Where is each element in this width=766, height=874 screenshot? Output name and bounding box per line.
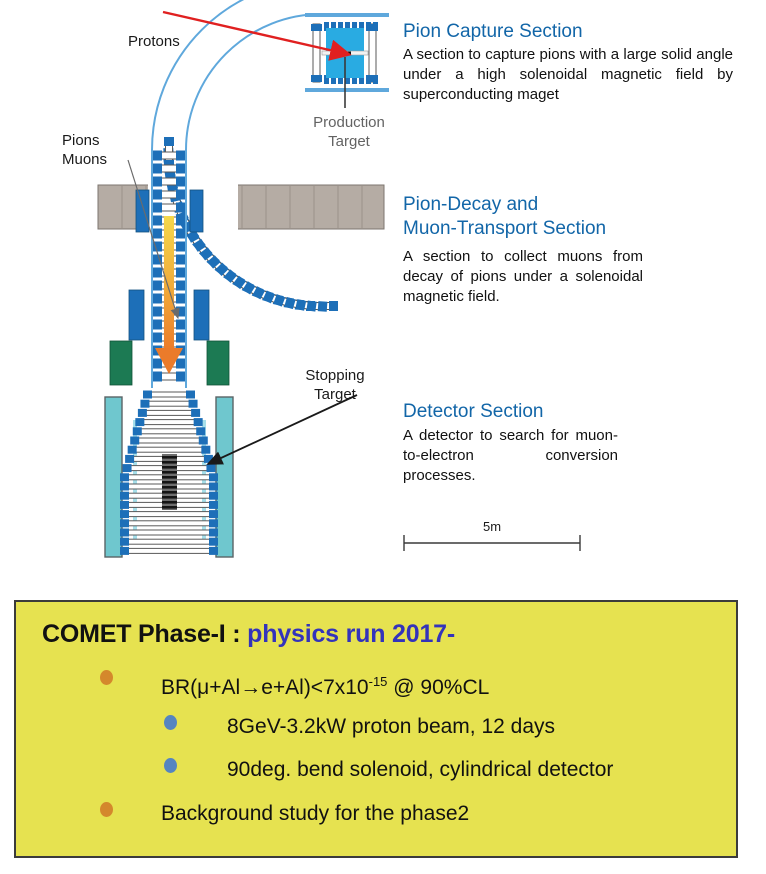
scale-bar-label: 5m xyxy=(404,519,580,534)
bullet-dot-orange xyxy=(100,670,113,685)
summary-box: COMET Phase-I : physics run 2017- BR(μ+A… xyxy=(14,600,738,858)
bullet-item-branching-ratio: BR(μ+Al→e+Al)<7x10-15 @ 90%CL xyxy=(100,670,489,700)
pion-capture-section xyxy=(305,13,389,108)
pions-muons-label: Pions Muons xyxy=(62,131,107,169)
scale-bar xyxy=(404,535,580,551)
summary-title: COMET Phase-I : physics run 2017- xyxy=(42,620,455,649)
section-body-detector: A detector to search for muon-to-electro… xyxy=(403,426,618,486)
bullet-text-bend-solenoid: 90deg. bend solenoid, cylindrical detect… xyxy=(227,758,613,782)
bullet-text-proton-beam: 8GeV-3.2kW proton beam, 12 days xyxy=(227,715,555,739)
bullet-text-branching-ratio: BR(μ+Al→e+Al)<7x10-15 @ 90%CL xyxy=(161,670,489,700)
bullet-item-bend-solenoid: 90deg. bend solenoid, cylindrical detect… xyxy=(164,758,613,782)
summary-title-plain: COMET Phase-I : xyxy=(42,620,247,648)
section-body-pion-decay: A section to collect muons from decay of… xyxy=(403,247,643,307)
bullet-item-proton-beam: 8GeV-3.2kW proton beam, 12 days xyxy=(164,715,555,739)
bullet-dot-orange xyxy=(100,802,113,817)
stopping-target xyxy=(162,454,177,510)
bullet-dot-blue xyxy=(164,715,177,730)
section-heading-pion-decay: Pion-Decay and Muon-Transport Section xyxy=(403,193,606,241)
protons-label: Protons xyxy=(128,32,180,51)
bullet-text-background-study: Background study for the phase2 xyxy=(161,802,469,826)
production-target-label: Production Target xyxy=(305,113,393,151)
summary-title-highlight: physics run 2017- xyxy=(247,620,455,648)
section-heading-pion-capture: Pion Capture Section xyxy=(403,20,583,44)
bullet-item-background-study: Background study for the phase2 xyxy=(100,802,469,826)
bullet-dot-blue xyxy=(164,758,177,773)
section-body-pion-capture: A section to capture pions with a large … xyxy=(403,45,733,105)
stopping-target-label: Stopping Target xyxy=(290,366,380,404)
section-heading-detector: Detector Section xyxy=(403,400,543,424)
